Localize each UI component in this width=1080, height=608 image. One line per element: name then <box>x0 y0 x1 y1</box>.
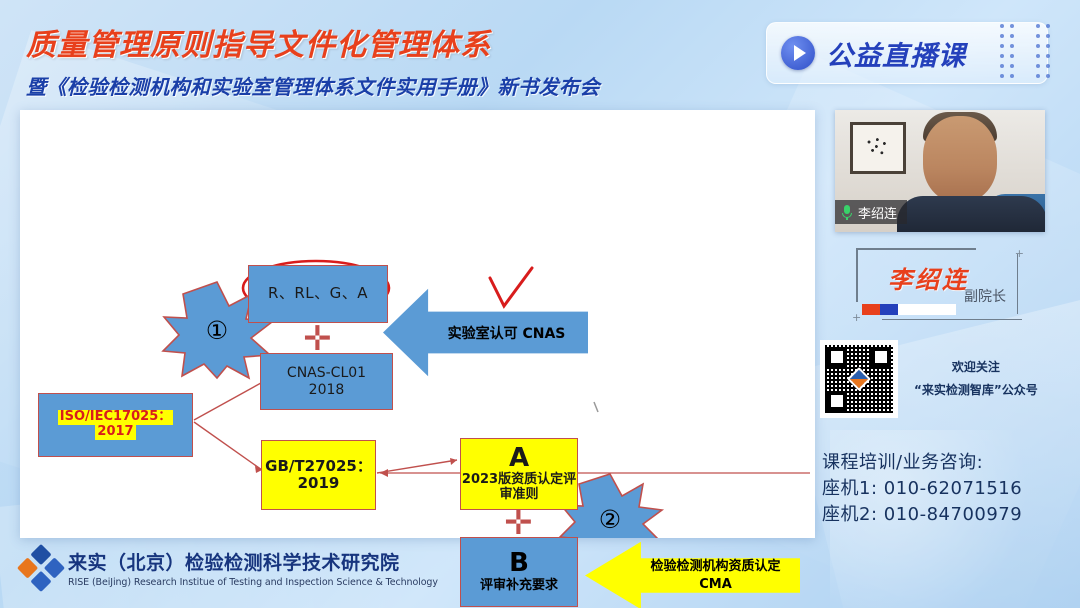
box-a-text: 2023版资质认定评审准则 <box>461 473 577 503</box>
nameplate-line <box>856 248 976 250</box>
box-b: B 评审补充要求 <box>460 537 578 607</box>
speaker-name-label: 李绍连 <box>858 203 897 222</box>
presentation-slide: 实验室认可 CNAS ① ② R、RL、G、A ✛ CNAS-CL01 2018… <box>20 110 815 538</box>
speaker-body <box>897 196 1045 232</box>
cma-arrow-label-line1: 检验检测机构资质认定 <box>650 558 780 576</box>
cma-arrow-label-line2: CMA <box>699 576 732 594</box>
plus-symbol-two: ✛ <box>504 506 533 540</box>
box-a-letter: A <box>509 445 529 471</box>
box-b-letter: B <box>509 550 529 576</box>
dot-pattern-decoration <box>1000 24 1014 78</box>
play-icon <box>781 36 815 70</box>
box-gbt-line2: 2019 <box>298 475 340 492</box>
contact-line-2: 座机1: 010-62071516 <box>822 476 1022 502</box>
institute-mark-icon <box>17 544 65 592</box>
nameplate-line <box>856 248 858 302</box>
speaker-head <box>923 116 997 202</box>
nameplate-line <box>1017 254 1019 314</box>
nameplate-plus-marker: + <box>852 312 861 323</box>
header-titles: 质量管理原则指导文件化管理体系 暨《检验检测机构和实验室管理体系文件实用手册》新… <box>26 20 786 100</box>
starburst-two-label: ② <box>599 505 621 534</box>
box-gbt-27025: GB/T27025： 2019 <box>261 440 376 510</box>
starburst-one-label: ① <box>206 316 228 345</box>
box-cnas-cl01: CNAS-CL01 2018 <box>260 353 393 410</box>
box-iso-line2: 2017 <box>95 425 135 440</box>
box-iso-line1: ISO/IEC17025： <box>58 410 173 425</box>
live-course-label: 公益直播课 <box>826 34 966 73</box>
contact-info: 课程培训/业务咨询: 座机1: 010-62071516 座机2: 010-84… <box>822 450 1022 528</box>
speaker-name-tag: 李绍连 <box>835 200 907 224</box>
box-cnas-cl01-line1: CNAS-CL01 <box>287 365 366 381</box>
nameplate-line <box>882 319 1022 321</box>
speaker-video-tile[interactable]: 李绍连 <box>835 110 1045 232</box>
box-gbt-line1: GB/T27025： <box>265 458 372 475</box>
institute-names: 来实（北京）检验检测科学技术研究院 RISE (BeiJing) Researc… <box>68 548 438 588</box>
page-title: 质量管理原则指导文件化管理体系 <box>26 20 786 64</box>
plus-symbol-one: ✛ <box>303 322 332 356</box>
presenter-name: 李绍连 <box>888 260 969 295</box>
institute-name-cn: 来实（北京）检验检测科学技术研究院 <box>68 548 438 575</box>
qr-code-icon[interactable] <box>820 340 898 418</box>
qr-caption-line1: 欢迎关注 <box>914 356 1038 379</box>
nameplate-color-bars <box>862 304 956 315</box>
institute-name-en: RISE (BeiJing) Research Institue of Test… <box>68 577 438 588</box>
cnas-arrow-label: 实验室认可 CNAS <box>448 323 566 343</box>
box-rrlga: R、RL、G、A <box>248 265 388 323</box>
contact-line-3: 座机2: 010-84700979 <box>822 502 1022 528</box>
page-subtitle: 暨《检验检测机构和实验室管理体系文件实用手册》新书发布会 <box>26 71 786 100</box>
qr-caption-line2: “来实检测智库”公众号 <box>914 379 1038 402</box>
qr-caption: 欢迎关注 “来实检测智库”公众号 <box>914 356 1038 402</box>
box-rrlga-label: R、RL、G、A <box>268 285 368 302</box>
presenter-nameplate: + + 李绍连 副院长 <box>852 248 1034 320</box>
box-b-text: 评审补充要求 <box>480 579 558 594</box>
microphone-icon <box>841 204 853 220</box>
institute-logo: 来实（北京）检验检测科学技术研究院 RISE (BeiJing) Researc… <box>24 548 438 588</box>
box-iso-iec-17025: ISO/IEC17025： 2017 <box>38 393 193 457</box>
wall-picture-frame <box>850 122 906 174</box>
box-a: A 2023版资质认定评审准则 <box>460 438 578 510</box>
wechat-qr-block: 欢迎关注 “来实检测智库”公众号 <box>820 340 1038 418</box>
box-cnas-cl01-line2: 2018 <box>309 382 345 398</box>
dot-pattern-decoration <box>1036 24 1050 78</box>
nameplate-plus-marker: + <box>1015 248 1024 259</box>
contact-line-1: 课程培训/业务咨询: <box>822 450 1022 476</box>
presenter-role: 副院长 <box>964 286 1006 306</box>
